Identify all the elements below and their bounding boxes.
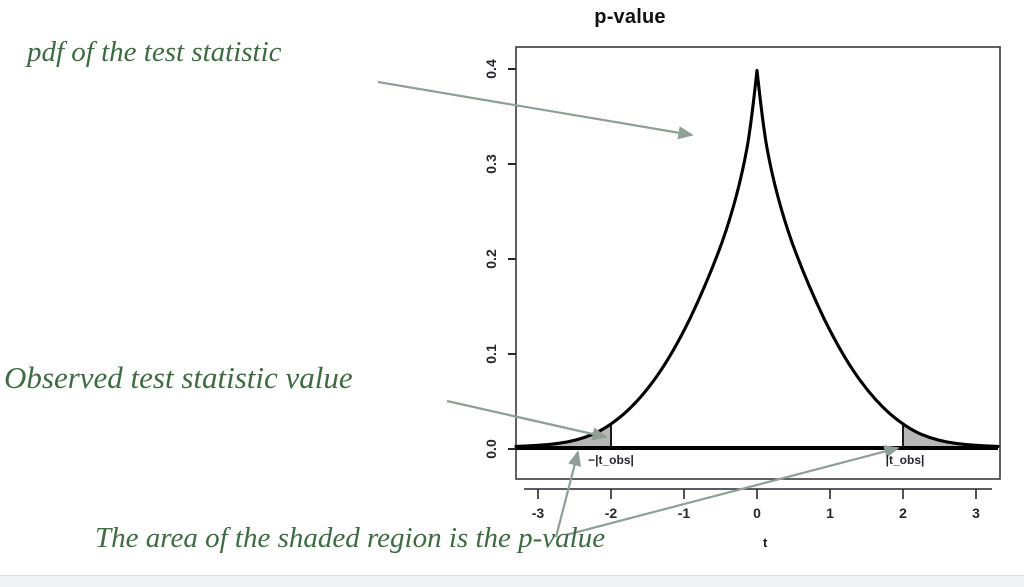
obs-left-label: −|t_obs| — [588, 453, 634, 467]
arrow-observed-to-marker — [447, 401, 606, 437]
annotation-area-note: The area of the shaded region is the p-v… — [95, 524, 605, 553]
plot-frame — [516, 47, 1000, 479]
arrow-pdf-to-curve — [378, 82, 692, 135]
x-tick-label: 1 — [826, 505, 834, 521]
pdf-curve — [516, 70, 998, 446]
y-tick-label: 0.3 — [483, 154, 499, 173]
slide-canvas: p-value — [0, 0, 1024, 586]
window-bottom-strip — [0, 575, 1024, 587]
annotation-observed-note: Observed test statistic value — [4, 362, 353, 393]
x-tick-label: -2 — [605, 505, 617, 521]
y-tick-label: 0.4 — [483, 59, 499, 78]
x-axis-ticks — [524, 489, 992, 499]
y-tick-label: 0.2 — [483, 249, 499, 268]
x-tick-label: 3 — [972, 505, 980, 521]
obs-right-label: |t_obs| — [886, 453, 925, 467]
x-axis-label: t — [763, 535, 767, 550]
shaded-region-right — [903, 423, 998, 448]
chart-title: p-value — [0, 6, 1024, 29]
x-tick-label: 0 — [753, 505, 761, 521]
y-tick-label: 0.1 — [483, 344, 499, 363]
x-tick-label: 2 — [899, 505, 907, 521]
annotation-pdf-note: pdf of the test statistic — [27, 38, 282, 67]
chart-title-text: p-value — [594, 6, 665, 29]
y-tick-label: 0.0 — [483, 439, 499, 458]
x-tick-label: -3 — [532, 505, 544, 521]
x-tick-label: -1 — [678, 505, 690, 521]
shaded-region-left — [516, 423, 611, 448]
y-axis-ticks — [508, 69, 516, 449]
plot-area — [0, 0, 1024, 586]
